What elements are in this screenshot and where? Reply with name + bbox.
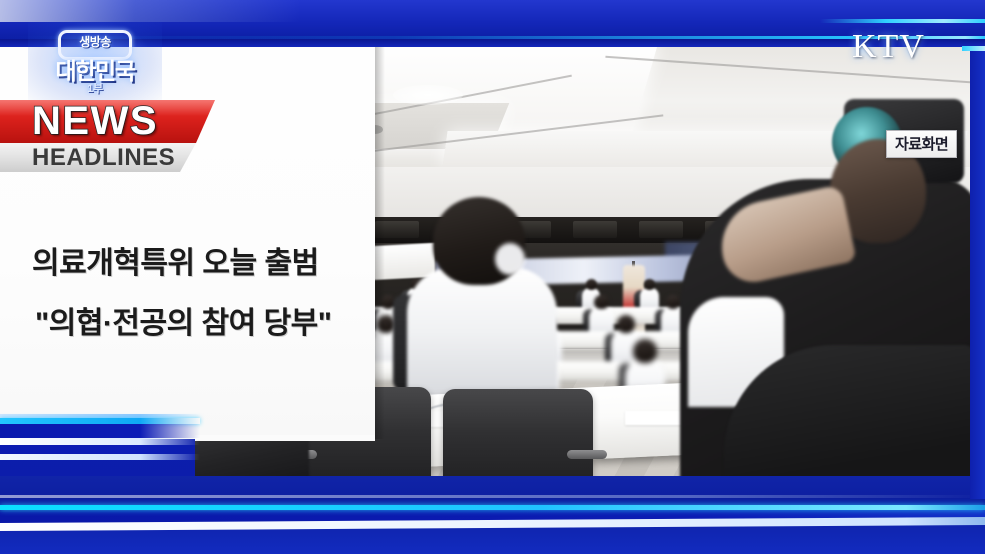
frame-bottom-thin-stripe <box>0 495 985 498</box>
attendee-head <box>633 339 657 363</box>
station-logo: 생방송 대한민국 1부 <box>34 28 156 100</box>
headline-panel-notch <box>195 435 375 441</box>
paper <box>625 411 687 425</box>
watermark-accent-line <box>820 19 985 23</box>
program-banner-subtitle: HEADLINES <box>32 143 222 172</box>
attendee-head <box>594 295 608 309</box>
headline-line-2: "의협·전공의 참여 당부" <box>0 298 375 342</box>
seated-person-body <box>407 267 557 397</box>
stripe <box>0 454 200 460</box>
truss-light-box <box>573 221 617 238</box>
attendee-head <box>617 315 635 333</box>
attendee-head <box>586 279 597 290</box>
truss-light-box <box>639 221 683 238</box>
attendee-head <box>666 295 680 309</box>
headline-line-1: 의료개혁특위 오늘 출범 <box>0 238 375 282</box>
headline-panel-shadow <box>375 47 385 439</box>
logo-part-text: 1부 <box>34 80 156 96</box>
ceiling-light <box>393 85 463 105</box>
attendee-head <box>644 279 655 290</box>
logo-badge-text: 생방송 <box>58 33 132 50</box>
watermark-accent-line-short <box>962 46 985 51</box>
footage-badge: 자료화면 <box>886 130 957 158</box>
stripe <box>0 445 200 454</box>
broadcast-screen: 의료개혁특위 오늘 출범 "의협·전공의 참여 당부" 생방송 대한민국 1부 … <box>0 0 985 554</box>
stripe <box>0 438 200 445</box>
frame-right-edge <box>970 47 985 499</box>
frame-left-stripes <box>0 414 200 476</box>
program-banner: NEWS HEADLINES <box>0 100 215 172</box>
chair-armrest <box>567 450 607 459</box>
program-banner-title: NEWS <box>32 100 232 143</box>
frame-bottom-cyan-stripe <box>0 505 985 510</box>
frame-top-gloss <box>0 0 300 22</box>
face-mask <box>495 243 525 275</box>
channel-watermark: KTV <box>852 28 925 66</box>
stripe <box>0 424 200 438</box>
